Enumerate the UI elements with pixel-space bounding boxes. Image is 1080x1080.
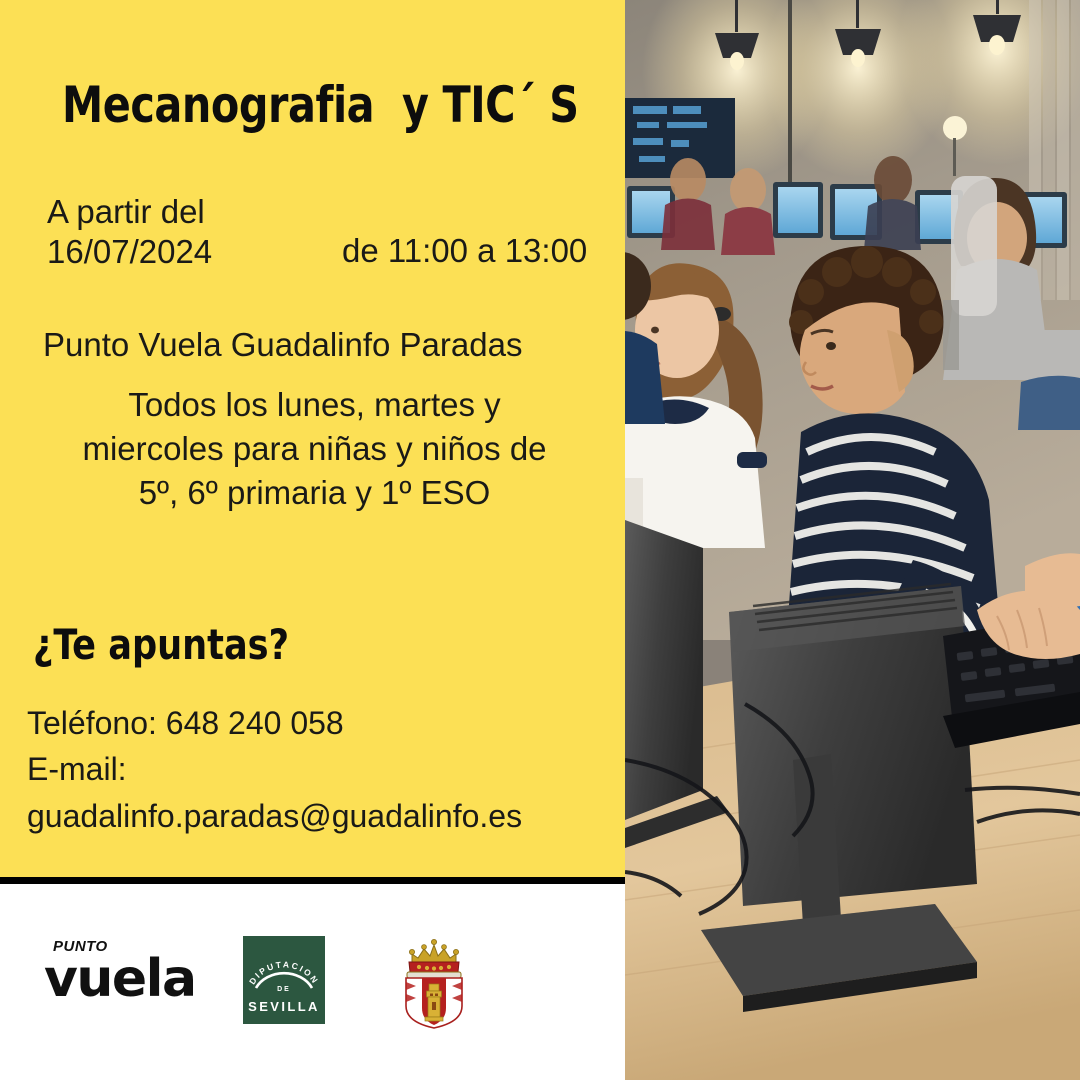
schedule-line: miercoles para niñas y niños de bbox=[22, 427, 607, 471]
paradas-coat-of-arms-icon bbox=[392, 932, 476, 1032]
cta-heading: ¿Te apuntas? bbox=[33, 620, 289, 669]
classroom-photo bbox=[625, 0, 1080, 1080]
punto-vuela-logo: PUNTO vuela bbox=[44, 939, 204, 1004]
diputacion-arc-text: DIPUTACION bbox=[243, 952, 325, 992]
contact-block: Teléfono: 648 240 058 E-mail: guadalinfo… bbox=[27, 700, 622, 839]
phone-line[interactable]: Teléfono: 648 240 058 bbox=[27, 700, 622, 746]
schedule-line: Todos los lunes, martes y bbox=[22, 383, 607, 427]
page-title: Mecanografia y TIC´ S bbox=[62, 76, 563, 134]
time-range: de 11:00 a 13:00 bbox=[342, 232, 587, 270]
start-date: 16/07/2024 bbox=[47, 233, 212, 271]
info-panel: Mecanografia y TIC´ S A partir del 16/07… bbox=[0, 0, 625, 877]
email-address[interactable]: guadalinfo.paradas@guadalinfo.es bbox=[27, 793, 622, 839]
email-label: E-mail: bbox=[27, 746, 622, 792]
diputacion-sevilla-text: SEVILLA bbox=[243, 999, 325, 1014]
schedule-line: 5º, 6º primaria y 1º ESO bbox=[22, 471, 607, 515]
footer-logo-row: PUNTO vuela DIPUTACION DE SEVILLA bbox=[0, 884, 625, 1080]
punto-vuela-logo-bottom: vuela bbox=[44, 955, 204, 1004]
start-label: A partir del bbox=[47, 190, 205, 234]
schedule-block: Todos los lunes, martes y miercoles para… bbox=[22, 383, 607, 515]
diputacion-sevilla-logo: DIPUTACION DE SEVILLA bbox=[243, 936, 325, 1024]
poster: Mecanografia y TIC´ S A partir del 16/07… bbox=[0, 0, 1080, 1080]
panel-divider bbox=[0, 877, 625, 884]
venue-name: Punto Vuela Guadalinfo Paradas bbox=[43, 326, 522, 364]
